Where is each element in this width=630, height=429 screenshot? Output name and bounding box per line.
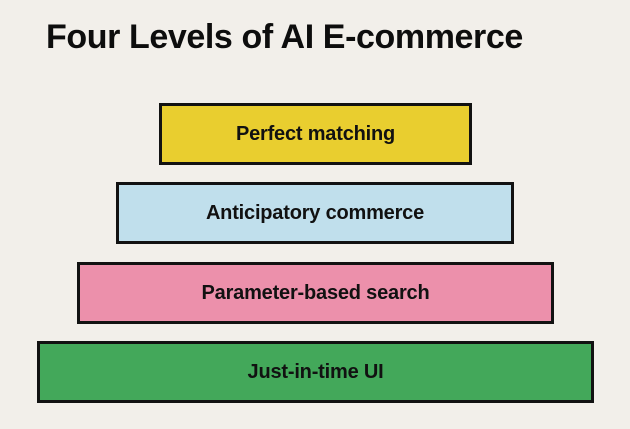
level-bar-parameter-based-search[interactable]: Parameter-based search	[77, 262, 554, 324]
level-bar-label: Just-in-time UI	[248, 361, 384, 384]
level-bar-anticipatory-commerce[interactable]: Anticipatory commerce	[116, 182, 514, 244]
level-bar-perfect-matching[interactable]: Perfect matching	[159, 103, 472, 165]
level-bar-label: Anticipatory commerce	[206, 202, 424, 225]
level-bar-label: Parameter-based search	[202, 282, 430, 305]
page-title: Four Levels of AI E-commerce	[46, 19, 523, 56]
level-bar-label: Perfect matching	[236, 123, 395, 146]
diagram-canvas: Four Levels of AI E-commerce Perfect mat…	[0, 0, 630, 429]
level-bar-just-in-time-ui[interactable]: Just-in-time UI	[37, 341, 594, 403]
